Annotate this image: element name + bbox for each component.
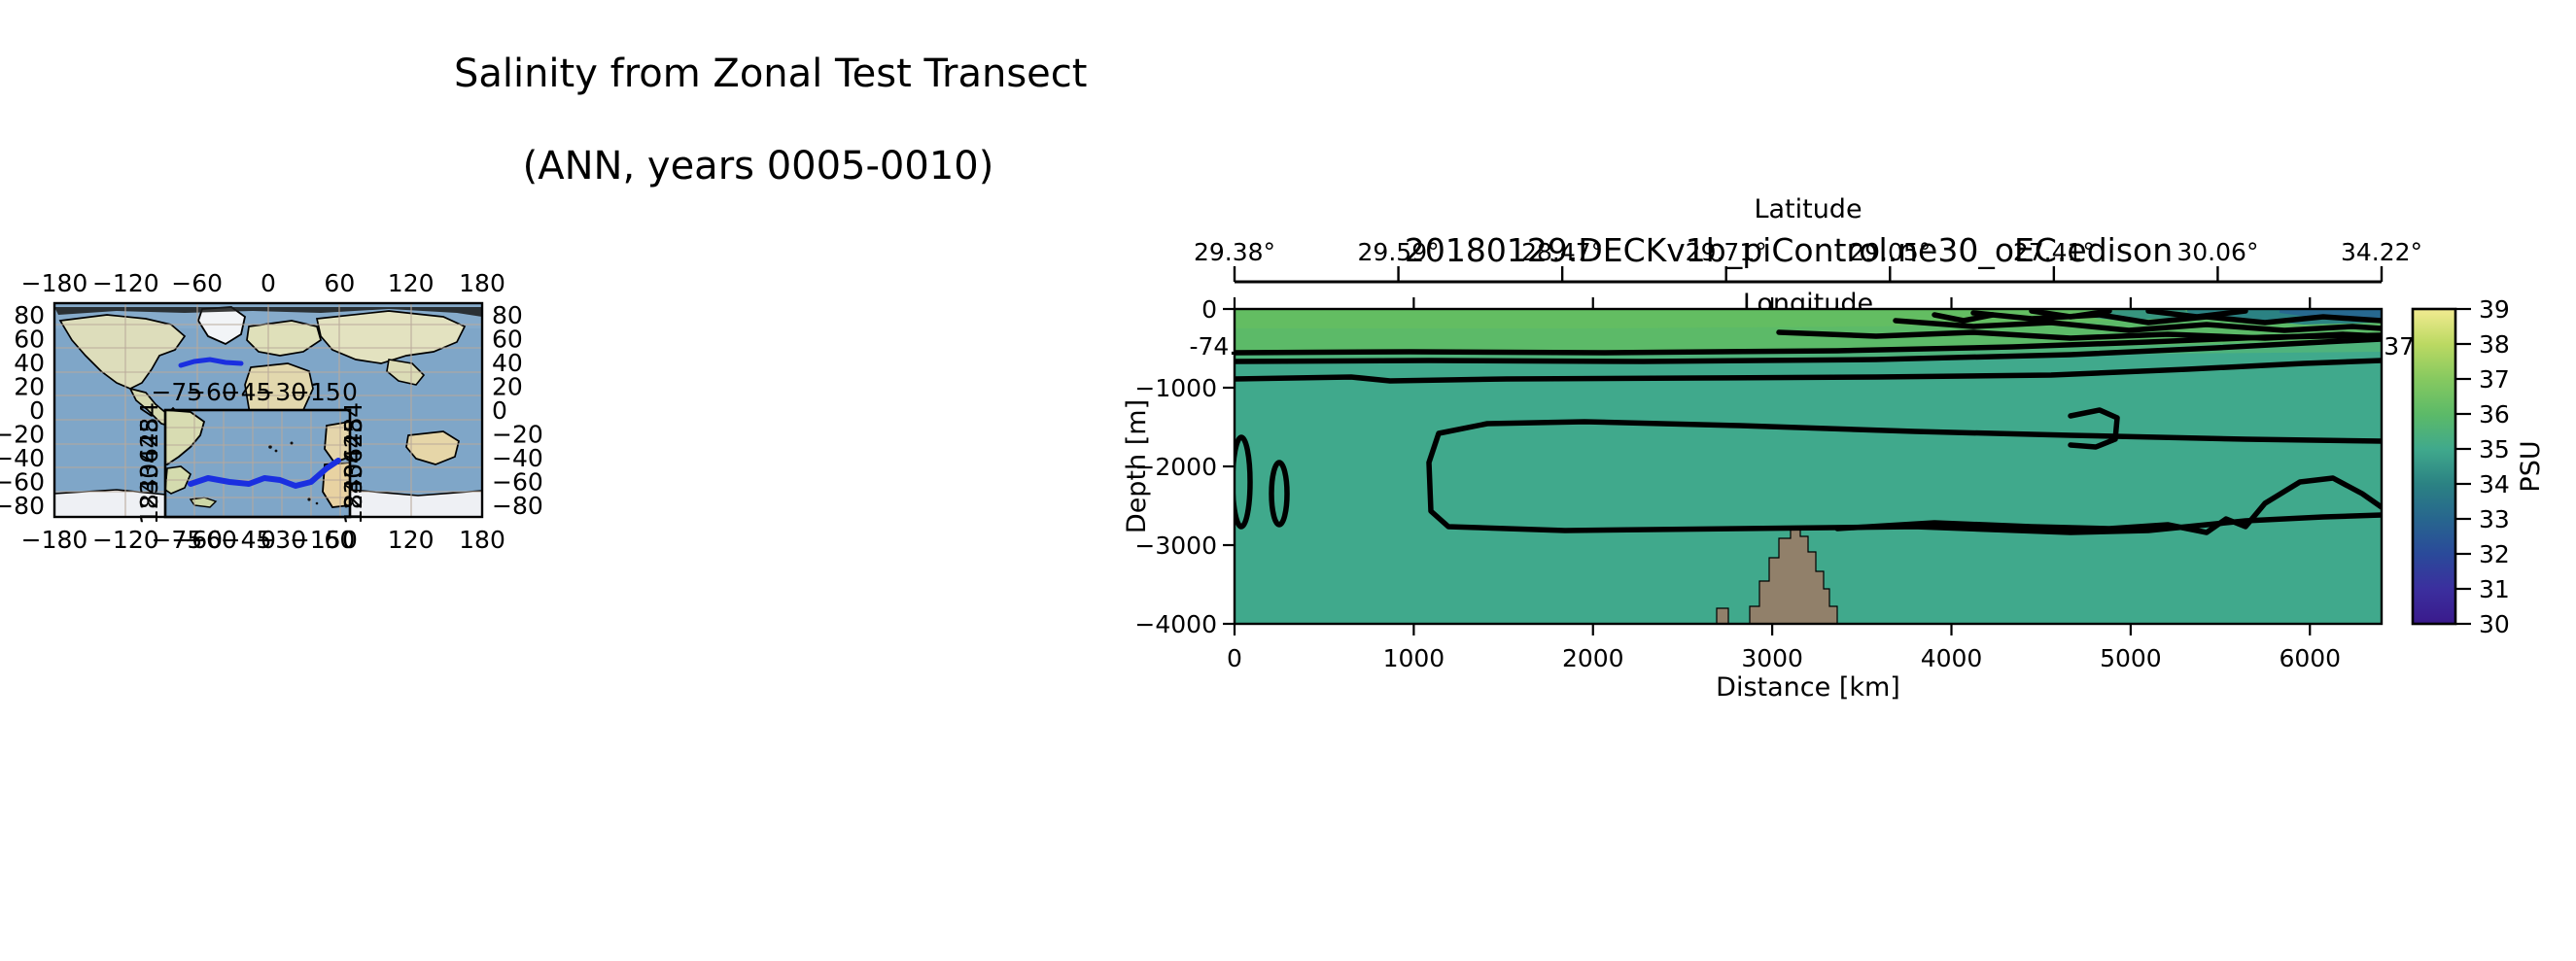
map-lon-tick-top-3: 0	[261, 269, 276, 297]
depth-axis-title: Depth [m]	[1122, 399, 1152, 533]
latitude-tick-0: 29.38°	[1194, 238, 1275, 266]
map-latitude-left-ticks: 806040200−20−40−60−80	[0, 301, 45, 520]
zoom-longitude-bottom-ticks: −75−60−45−30−150	[151, 526, 357, 554]
distance-tick-label-4: 4000	[1921, 644, 1983, 672]
depth-tick-label-1: −1000	[1134, 374, 1217, 402]
distance-tick-labels: 0100020003000400050006000	[1227, 644, 2341, 672]
map-lon-tick-top-2: −60	[171, 269, 223, 297]
colorbar-label: PSU	[2516, 440, 2546, 492]
latitude-axis-spine	[1235, 266, 2382, 282]
zoom-lat-tick-right-6: 18	[339, 494, 367, 525]
zoom-latitude-left-ticks: 54484236302418	[135, 402, 163, 525]
latitude-tick-2: 28.47°	[1521, 238, 1603, 266]
section-field	[1233, 309, 2382, 624]
map-lat-tick-left-8: −80	[0, 492, 45, 520]
colorbar-tick-label-0: 39	[2479, 295, 2510, 324]
zoom-longitude-top-ticks: −75−60−45−30−150	[151, 378, 357, 406]
colorbar-tick-label-4: 35	[2479, 435, 2510, 463]
latitude-tick-6: 30.06°	[2176, 238, 2258, 266]
world-map-svg[interactable]: −180−120−60060120180 −180−120−6006012018…	[0, 262, 544, 583]
distance-tick-label-5: 5000	[2100, 644, 2162, 672]
latitude-tick-5: 27.41°	[2013, 238, 2095, 266]
figure-title-line1: Salinity from Zonal Test Transect	[454, 51, 1088, 96]
colorbar-tick-labels: 39383736353433323130	[2479, 295, 2510, 638]
transect-svg[interactable]: Latitude 29.38°29.59°28.47°29.71°29.05°2…	[1098, 190, 2576, 958]
seamount-bathymetry	[1717, 608, 1728, 624]
distance-axis-title: Distance [km]	[1716, 672, 1900, 703]
map-lat-tick-right-8: −80	[492, 492, 543, 520]
zoom-lat-tick-left-6: 18	[135, 494, 163, 525]
map-zoom-inset[interactable]	[165, 410, 350, 517]
map-inset-panel: −180−120−60060120180 −180−120−6006012018…	[0, 262, 544, 583]
zoom-latitude-right-ticks: 54484236302418	[339, 402, 367, 525]
map-longitude-top-ticks: −180−120−60060120180	[21, 269, 505, 297]
depth-tick-label-3: −3000	[1134, 532, 1217, 560]
map-lon-tick-top-1: −120	[92, 269, 159, 297]
map-lon-tick-bottom-5: 120	[388, 526, 435, 554]
colorbar-ticks	[2455, 309, 2471, 624]
latitude-tick-1: 29.59°	[1358, 238, 1440, 266]
zoom-lon-tick-top-5: 0	[342, 378, 358, 406]
latitude-axis-title: Latitude	[1754, 194, 1862, 224]
distance-tick-label-6: 6000	[2279, 644, 2341, 672]
map-lon-tick-top-6: 180	[459, 269, 505, 297]
colorbar-tick-label-5: 34	[2479, 470, 2510, 498]
transect-plot-panel: Latitude 29.38°29.59°28.47°29.71°29.05°2…	[1098, 190, 2576, 958]
latitude-tick-labels: 29.38°29.59°28.47°29.71°29.05°27.41°30.0…	[1194, 238, 2422, 266]
colorbar-tick-label-1: 38	[2479, 330, 2510, 359]
colorbar[interactable]: 39383736353433323130 PSU	[2413, 295, 2546, 638]
depth-tick-label-0: 0	[1201, 295, 1217, 324]
depth-tick-label-4: −4000	[1134, 610, 1217, 638]
distance-tick-label-0: 0	[1227, 644, 1242, 672]
colorbar-gradient	[2413, 309, 2455, 624]
colorbar-tick-label-3: 36	[2479, 400, 2510, 429]
figure-title-line2: (ANN, years 0005-0010)	[0, 144, 1516, 189]
latitude-tick-3: 29.71°	[1686, 238, 1767, 266]
map-latitude-right-ticks: 806040200−20−40−60−80	[492, 301, 543, 520]
map-lon-tick-bottom-6: 180	[459, 526, 505, 554]
distance-tick-label-2: 2000	[1562, 644, 1624, 672]
map-lon-tick-bottom-1: −120	[92, 526, 159, 554]
latitude-tick-7: 34.22°	[2341, 238, 2422, 266]
map-lon-tick-bottom-0: −180	[21, 526, 88, 554]
latitude-tick-4: 29.05°	[1849, 238, 1931, 266]
colorbar-tick-label-2: 37	[2479, 365, 2510, 394]
map-lon-tick-top-4: 60	[324, 269, 355, 297]
map-lon-tick-top-0: −180	[21, 269, 88, 297]
zoom-lon-tick-top-4: −15	[290, 378, 341, 406]
colorbar-tick-label-6: 33	[2479, 505, 2510, 533]
zoom-lon-tick-bottom-5: 0	[342, 526, 358, 554]
zoom-lon-tick-bottom-4: −15	[290, 526, 341, 554]
distance-tick-label-3: 3000	[1741, 644, 1803, 672]
distance-tick-label-1: 1000	[1383, 644, 1445, 672]
colorbar-tick-label-8: 31	[2479, 575, 2510, 603]
colorbar-tick-label-9: 30	[2479, 610, 2510, 638]
colorbar-tick-label-7: 32	[2479, 540, 2510, 568]
map-lon-tick-top-5: 120	[388, 269, 435, 297]
